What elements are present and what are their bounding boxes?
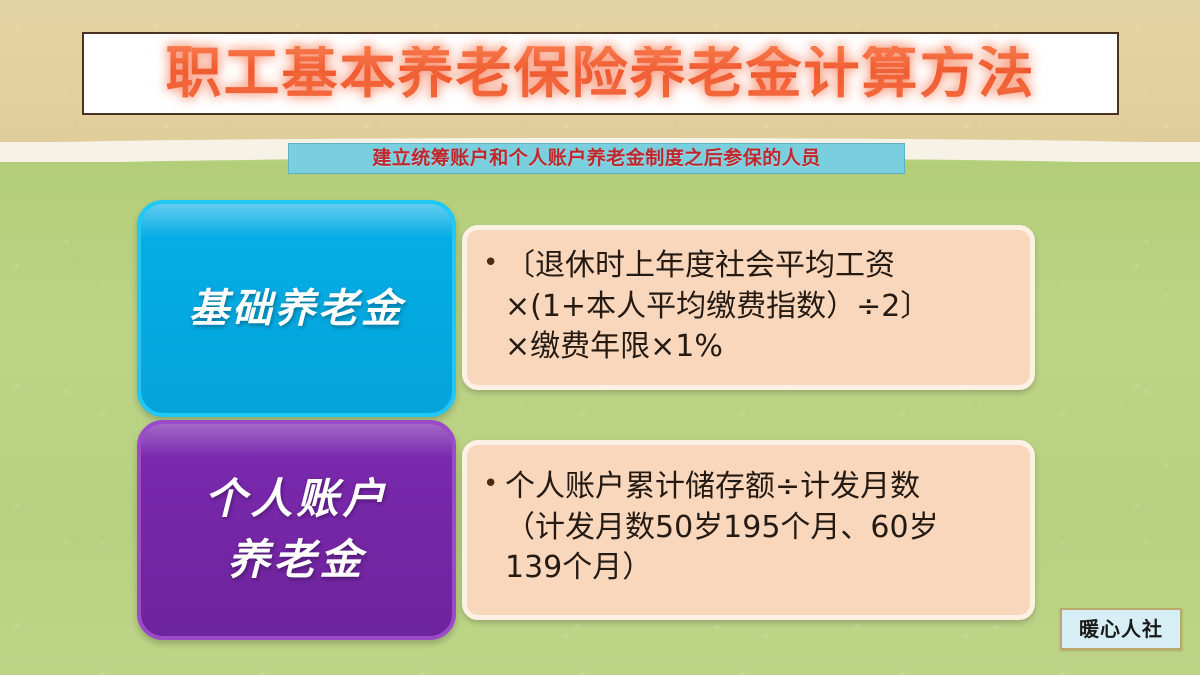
formula-line: ×缴费年限×1% [505, 327, 1012, 368]
category-label-line: 个人账户 [204, 469, 388, 530]
bullet-icon: • [483, 467, 505, 501]
formula-panel-basic-pension: • 〔退休时上年度社会平均工资 ×(1+本人平均缴费指数）÷2〕 ×缴费年限×1… [462, 225, 1035, 390]
watermark-text: 暖心人社 [1079, 619, 1163, 639]
bullet-icon: • [483, 246, 505, 280]
category-pill-personal-account-pension[interactable]: 个人账户 养老金 [137, 420, 456, 640]
category-pill-basic-pension[interactable]: 基础养老金 [137, 200, 456, 417]
category-label: 个人账户 养老金 [204, 469, 388, 591]
formula-line: 个人账户累计储存额÷计发月数 [505, 467, 1012, 508]
category-label-line: 养老金 [204, 530, 388, 591]
formula-text-basic-pension: 〔退休时上年度社会平均工资 ×(1+本人平均缴费指数）÷2〕 ×缴费年限×1% [505, 246, 1012, 368]
formula-text-personal-account-pension: 个人账户累计储存额÷计发月数 （计发月数50岁195个月、60岁 139个月） [505, 467, 1012, 589]
watermark-badge: 暖心人社 [1060, 608, 1182, 650]
category-label-line: 基础养老金 [189, 280, 404, 338]
formula-line: 〔退休时上年度社会平均工资 [505, 246, 1012, 287]
subtitle-bar: 建立统筹账户和个人账户养老金制度之后参保的人员 [288, 143, 905, 174]
subtitle-text: 建立统筹账户和个人账户养老金制度之后参保的人员 [372, 149, 821, 168]
formula-panel-personal-account-pension: • 个人账户累计储存额÷计发月数 （计发月数50岁195个月、60岁 139个月… [462, 440, 1035, 620]
formula-line: ×(1+本人平均缴费指数）÷2〕 [505, 287, 1012, 328]
title-box: 职工基本养老保险养老金计算方法 [82, 32, 1119, 115]
formula-line: （计发月数50岁195个月、60岁 [505, 508, 1012, 549]
slide-root: 职工基本养老保险养老金计算方法 建立统筹账户和个人账户养老金制度之后参保的人员 … [0, 0, 1200, 675]
category-label: 基础养老金 [189, 280, 404, 338]
formula-line: 139个月） [505, 548, 1012, 589]
page-title: 职工基本养老保险养老金计算方法 [166, 46, 1036, 102]
